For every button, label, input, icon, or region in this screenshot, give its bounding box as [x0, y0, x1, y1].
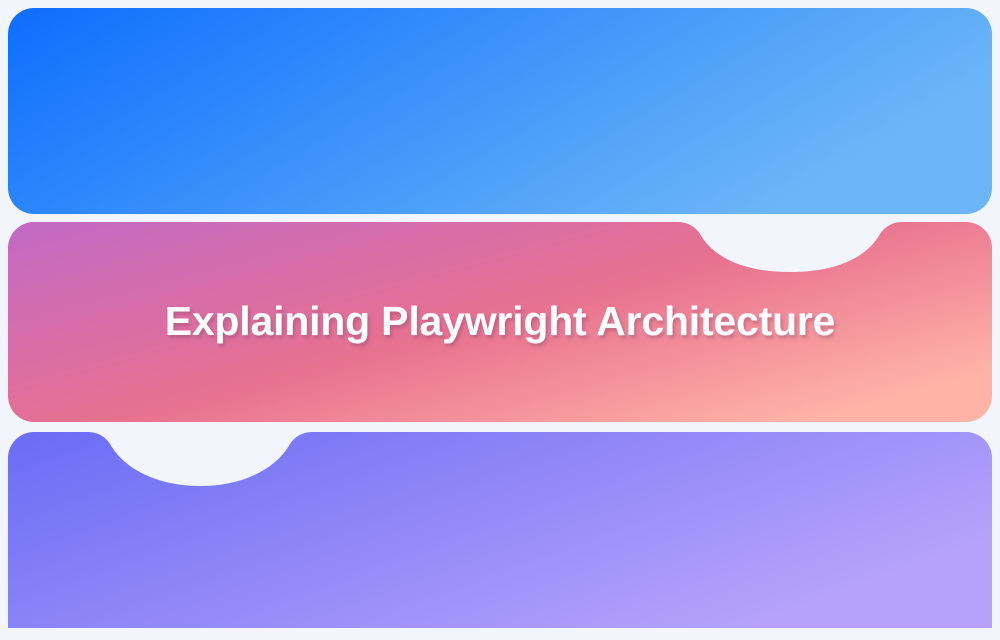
card-stack [0, 0, 1000, 640]
bottom-card [8, 432, 992, 628]
top-card [8, 8, 992, 214]
title-card [8, 222, 992, 422]
slide-canvas: Explaining Playwright Architecture [0, 0, 1000, 640]
